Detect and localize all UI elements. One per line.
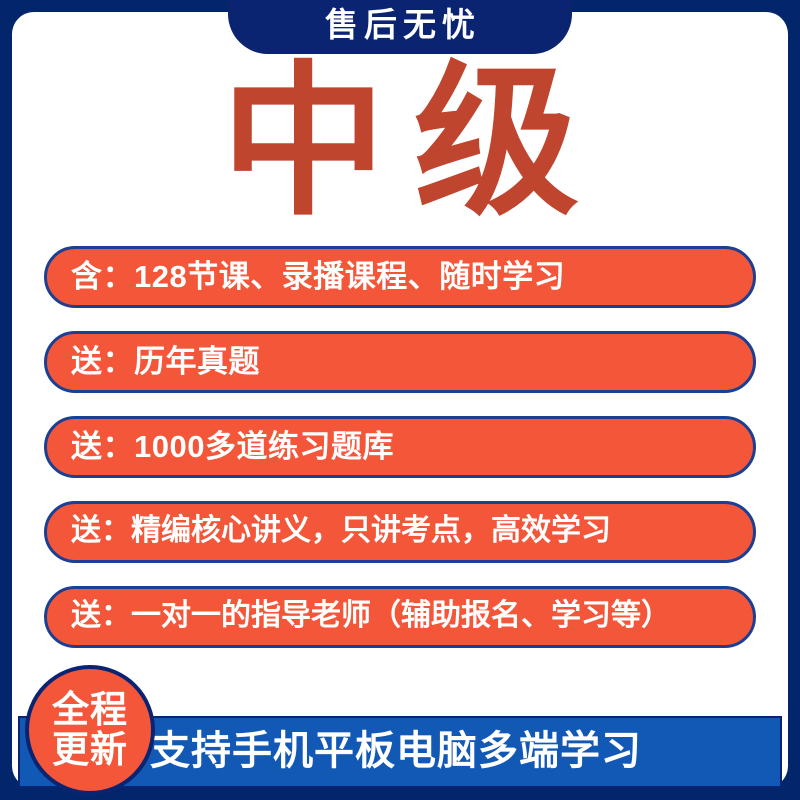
promo-poster: 售后无忧 中级 含：128节课、录播课程、随时学习 送：历年真题 送：1000多…	[0, 0, 800, 800]
feature-pill-list: 含：128节课、录播课程、随时学习 送：历年真题 送：1000多道练习题库 送：…	[44, 246, 756, 671]
update-badge-line-1: 全程	[52, 690, 128, 730]
update-badge-line-2: 更新	[52, 730, 128, 770]
feature-pill[interactable]: 送：1000多道练习题库	[44, 416, 756, 478]
headline-block: 中级	[0, 52, 800, 232]
feature-pill-label: 送：精编核心讲义，只讲考点，高效学习	[47, 516, 611, 546]
update-badge: 全程 更新	[25, 665, 155, 795]
feature-pill[interactable]: 送：历年真题	[44, 331, 756, 393]
feature-pill[interactable]: 送：精编核心讲义，只讲考点，高效学习	[44, 501, 756, 563]
feature-pill-label: 送：一对一的指导老师（辅助报名、学习等）	[47, 601, 671, 631]
feature-pill-label: 送：历年真题	[47, 346, 260, 377]
headline-text: 中级	[193, 60, 607, 225]
feature-pill-label: 含：128节课、录播课程、随时学习	[47, 261, 565, 292]
feature-pill-label: 送：1000多道练习题库	[47, 431, 394, 462]
feature-pill[interactable]: 送：一对一的指导老师（辅助报名、学习等）	[44, 586, 756, 648]
top-tab-banner: 售后无忧	[228, 0, 572, 54]
top-tab-label: 售后无忧	[319, 8, 481, 41]
feature-pill[interactable]: 含：128节课、录播课程、随时学习	[44, 246, 756, 308]
